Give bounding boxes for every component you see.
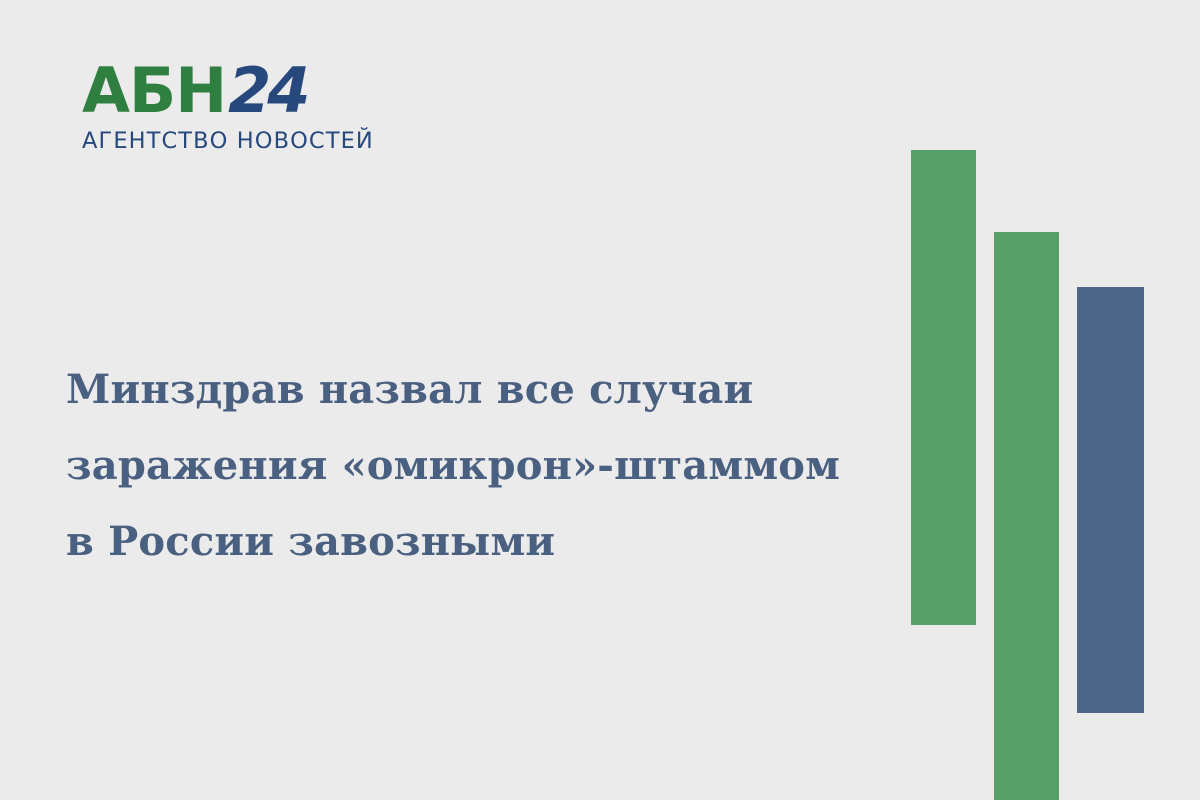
headline-line-2: заражения «омикрон»-штаммом bbox=[66, 428, 866, 504]
decorative-bar-2 bbox=[994, 232, 1059, 800]
decorative-bar-1 bbox=[911, 150, 976, 625]
logo-wordmark: АБН24 bbox=[82, 60, 374, 122]
headline-line-3: в России завозными bbox=[66, 504, 866, 580]
decorative-bar-3 bbox=[1077, 287, 1144, 713]
logo-wordmark-primary: АБН bbox=[82, 54, 226, 127]
logo[interactable]: АБН24 АГЕНТСТВО НОВОСТЕЙ bbox=[82, 60, 374, 154]
logo-wordmark-secondary: 24 bbox=[228, 54, 306, 127]
news-card: АБН24 АГЕНТСТВО НОВОСТЕЙ Минздрав назвал… bbox=[0, 0, 1200, 800]
headline: Минздрав назвал все случаи заражения «ом… bbox=[66, 352, 866, 580]
logo-tagline: АГЕНТСТВО НОВОСТЕЙ bbox=[82, 128, 374, 154]
headline-line-1: Минздрав назвал все случаи bbox=[66, 352, 866, 428]
